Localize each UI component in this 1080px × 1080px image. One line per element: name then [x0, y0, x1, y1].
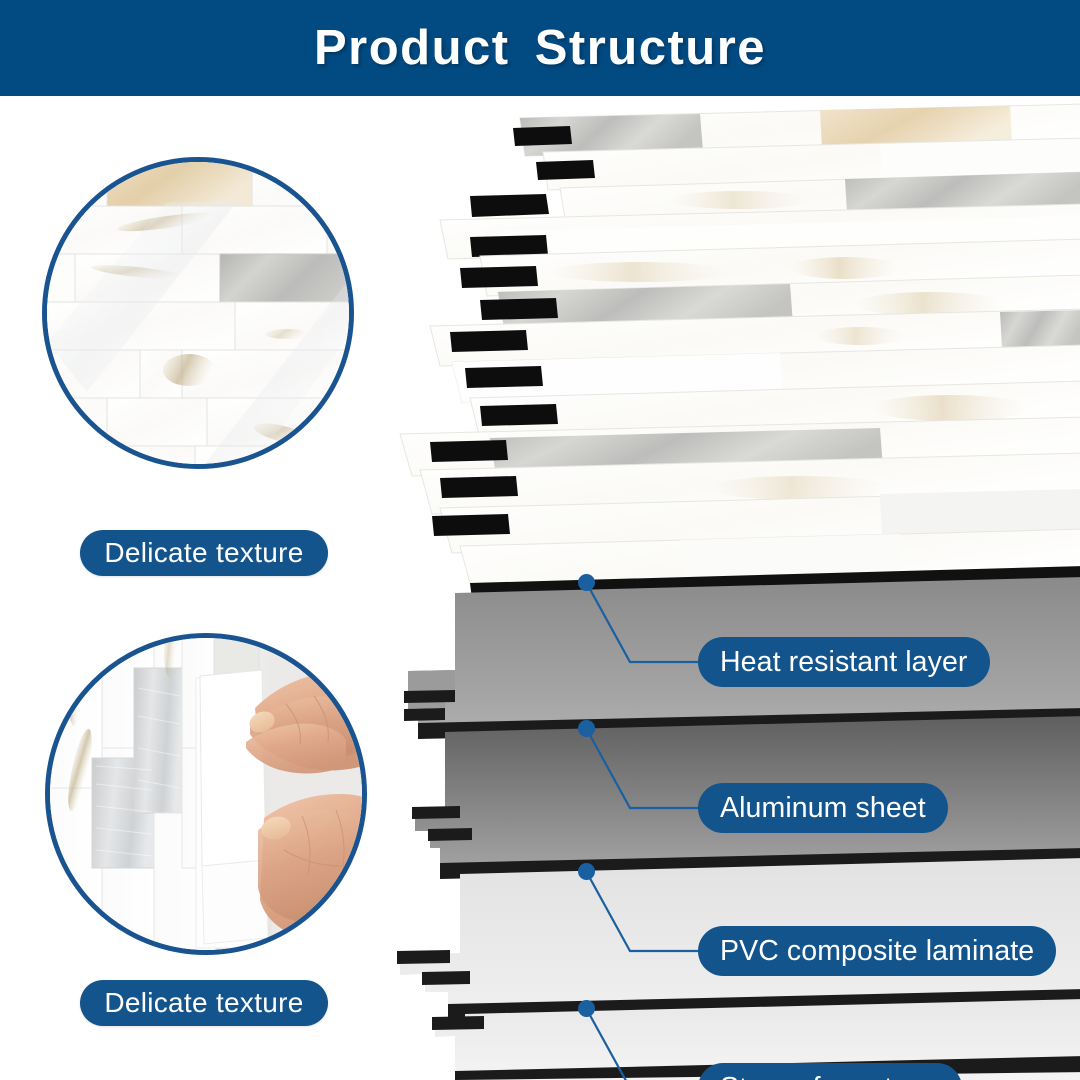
- layer-label-aluminum-sheet[interactable]: Aluminum sheet: [698, 783, 948, 833]
- callout-dot-aluminum: [578, 720, 595, 737]
- page-title: Product Structure: [314, 24, 766, 73]
- callout-dot-pvc: [578, 863, 595, 880]
- caption-pill-peel-and-stick[interactable]: Delicate texture: [80, 980, 328, 1026]
- layer-label-heat-resistant[interactable]: Heat resistant layer: [698, 637, 990, 687]
- layer-label-strong-foam-tape[interactable]: Strong foam tape: [698, 1063, 962, 1080]
- callout-dot-foam: [578, 1000, 595, 1017]
- layer-label-pvc-composite-laminate[interactable]: PVC composite laminate: [698, 926, 1056, 976]
- tile-surface: [400, 104, 1080, 591]
- callout-dot-heat-resistant: [578, 574, 595, 591]
- peel-and-stick-circle: [45, 633, 367, 955]
- header-banner: Product Structure: [0, 0, 1080, 96]
- caption-pill-texture-closeup[interactable]: Delicate texture: [80, 530, 328, 576]
- texture-closeup-circle: [42, 157, 354, 469]
- caption-text: Delicate texture: [104, 987, 303, 1019]
- caption-text: Delicate texture: [104, 537, 303, 569]
- texture-closeup-photo: [47, 162, 349, 464]
- product-structure-infographic: Product Structure: [0, 0, 1080, 1080]
- peel-and-stick-photo: [50, 638, 362, 950]
